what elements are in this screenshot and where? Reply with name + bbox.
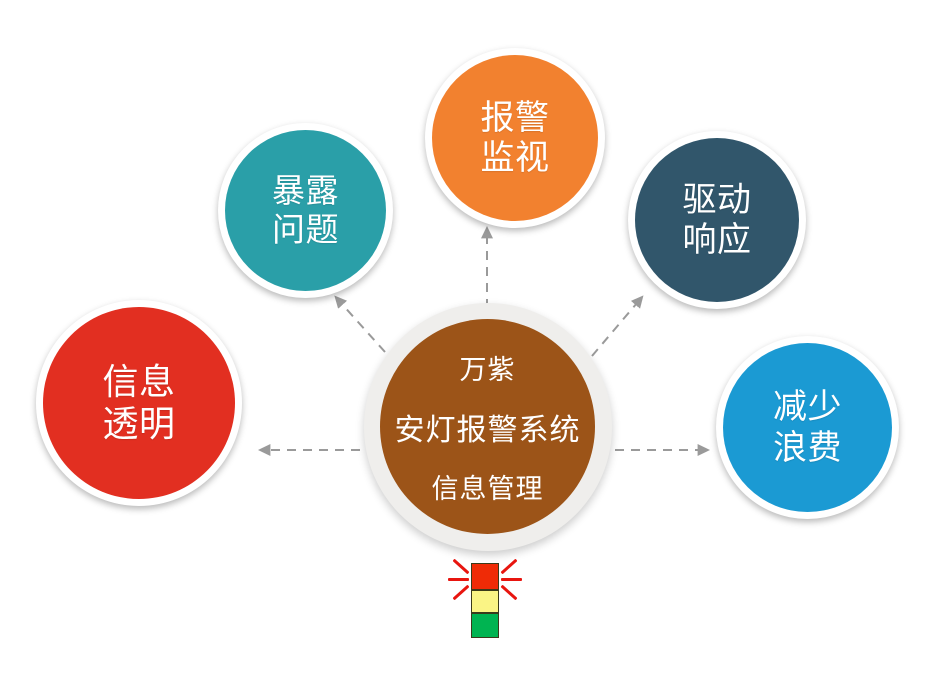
flash-ray-left-middle — [448, 578, 469, 581]
node-reduce-waste[interactable]: 减少 浪费 — [716, 336, 899, 519]
flash-ray-right-lower — [501, 585, 518, 601]
flash-ray-left-upper — [453, 559, 470, 575]
center-line-2: 安灯报警系统 — [395, 405, 581, 449]
lamp-segment-green — [471, 613, 499, 638]
node-expose-problems[interactable]: 暴露 问题 — [218, 123, 393, 298]
node-drive-response-label: 驱动 响应 — [683, 180, 752, 260]
center-line-3: 信息管理 — [432, 467, 544, 506]
lamp-segment-yellow — [471, 590, 499, 613]
andon-light-icon — [450, 552, 520, 648]
flash-ray-left-lower — [453, 585, 470, 601]
node-drive-response[interactable]: 驱动 响应 — [628, 131, 806, 309]
node-information-transparency[interactable]: 信息 透明 — [36, 300, 242, 506]
node-information-transparency-label: 信息 透明 — [102, 361, 175, 446]
connector-to-expose-problems — [341, 303, 385, 352]
center-line-1: 万紫 — [460, 348, 516, 387]
center-node-disc: 万紫 安灯报警系统 信息管理 — [380, 319, 595, 534]
connector-to-drive-response — [592, 303, 637, 356]
center-node[interactable]: 万紫 安灯报警系统 信息管理 — [364, 303, 612, 551]
node-drive-response-disc: 驱动 响应 — [635, 138, 799, 302]
flash-ray-right-upper — [501, 559, 518, 575]
node-alarm-monitoring-disc: 报警 监视 — [432, 55, 598, 221]
lamp-segment-red — [471, 563, 499, 590]
node-reduce-waste-disc: 减少 浪费 — [723, 343, 892, 512]
node-expose-problems-label: 暴露 问题 — [272, 172, 339, 250]
node-information-transparency-disc: 信息 透明 — [43, 307, 235, 499]
node-expose-problems-disc: 暴露 问题 — [225, 130, 386, 291]
diagram-canvas: 报警 监视 暴露 问题 驱动 响应 信息 透明 减少 浪费 万紫 安灯报警系统 … — [0, 0, 939, 680]
node-alarm-monitoring-label: 报警 监视 — [481, 98, 550, 178]
flash-ray-right-middle — [501, 578, 522, 581]
node-reduce-waste-label: 减少 浪费 — [773, 387, 842, 467]
node-alarm-monitoring[interactable]: 报警 监视 — [425, 48, 605, 228]
